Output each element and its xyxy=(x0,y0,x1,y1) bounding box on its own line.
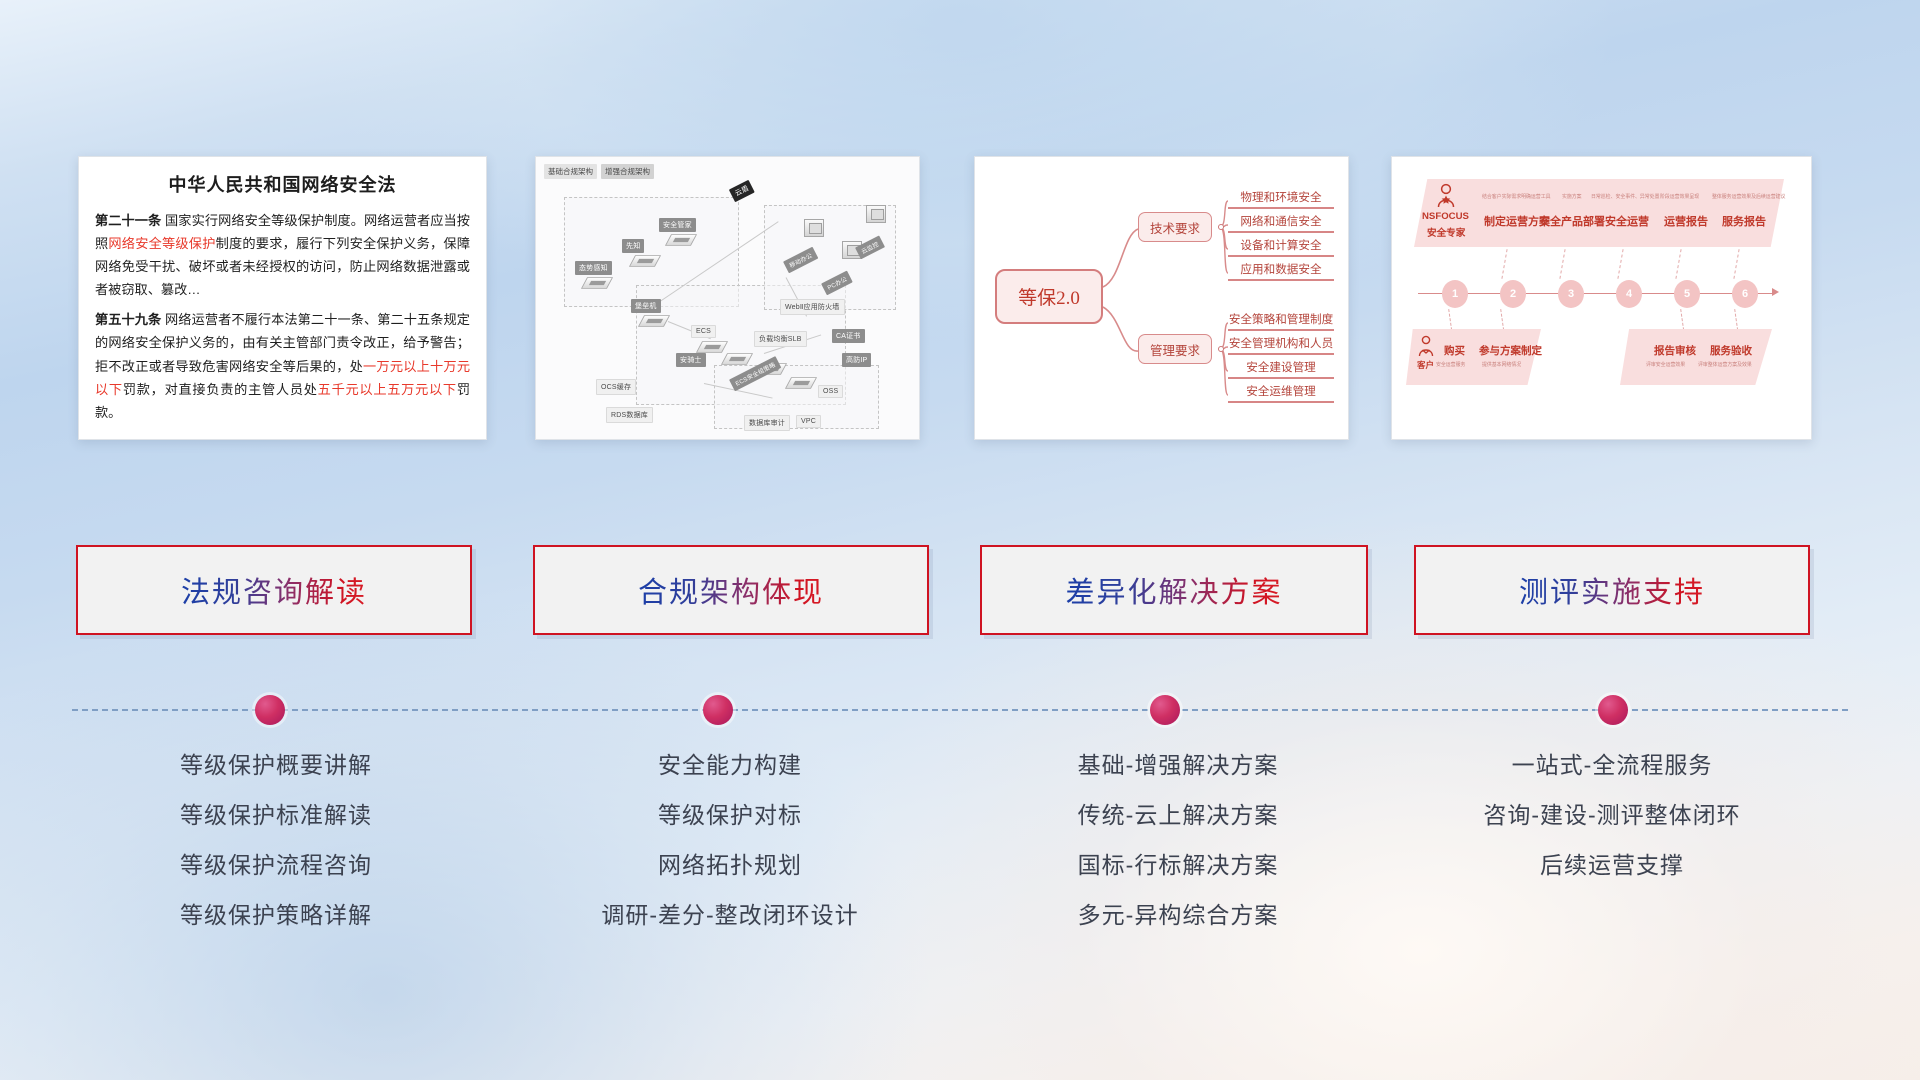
timeline-node-3[interactable] xyxy=(1598,695,1628,725)
mind-map-root[interactable]: 等保2.0 xyxy=(995,269,1103,324)
flow-step-2[interactable]: 2 xyxy=(1500,280,1526,308)
flow-timeline-axis xyxy=(1418,293,1774,294)
arch-tab-basic[interactable]: 基础合规架构 xyxy=(544,164,597,179)
timeline xyxy=(0,690,1920,730)
law-article-21-highlight: 网络安全等级保护 xyxy=(108,236,215,251)
mind-map-leaf-physical-env[interactable]: 物理和环境安全 xyxy=(1228,189,1334,209)
law-card-body: 中华人民共和国网络安全法 第二十一条 国家实行网络安全等级保护制度。网络运营者应… xyxy=(79,157,486,439)
arch-node-ca-cert[interactable]: CA证书 xyxy=(832,329,865,343)
arch-node-security-butler[interactable]: 安全管家 xyxy=(659,218,696,232)
mind-map-branch-management[interactable]: 管理要求 xyxy=(1138,334,1212,364)
section-title-text-0: 法规咨询解读 xyxy=(181,569,367,611)
flow-step-1[interactable]: 1 xyxy=(1442,280,1468,308)
list-item[interactable]: 多元-异构综合方案 xyxy=(978,890,1378,940)
arch-node-ecs[interactable]: ECS xyxy=(691,325,716,338)
timeline-node-1[interactable] xyxy=(703,695,733,725)
flow-tick-6 xyxy=(1733,249,1739,279)
preview-cards-row: 中华人民共和国网络安全法 第二十一条 国家实行网络安全等级保护制度。网络运营者应… xyxy=(0,150,1920,445)
flow-top-caption-2[interactable]: 安全产品部署 xyxy=(1539,213,1605,229)
flow-timeline-arrow-icon xyxy=(1772,288,1779,296)
section-title-text-2: 差异化解决方案 xyxy=(1065,569,1282,611)
list-item[interactable]: 等级保护流程咨询 xyxy=(76,840,476,890)
card-mind-map[interactable]: 等保2.0 技术要求 物理和环境安全 网络和通信安全 设备和计算安全 应用和数据… xyxy=(974,156,1349,440)
arch-node-vpc[interactable]: VPC xyxy=(796,415,821,428)
flow-top-sub-5: 整体服务运营效果及后续运营建议 xyxy=(1712,193,1785,200)
list-item[interactable]: 网络拓扑规划 xyxy=(530,840,930,890)
arch-node-cloud-shield[interactable]: 云盾 xyxy=(729,180,755,203)
list-item[interactable]: 等级保护标准解读 xyxy=(76,790,476,840)
mind-map-canvas: 等保2.0 技术要求 物理和环境安全 网络和通信安全 设备和计算安全 应用和数据… xyxy=(975,157,1348,439)
law-article-59-label: 第五十九条 xyxy=(95,312,161,327)
arch-node-oss[interactable]: OSS xyxy=(818,385,843,398)
list-item[interactable]: 等级保护对标 xyxy=(530,790,930,840)
list-item[interactable]: 一站式-全流程服务 xyxy=(1412,740,1812,790)
list-item[interactable]: 后续运营支撑 xyxy=(1412,840,1812,890)
mind-map-dot-management xyxy=(1218,346,1224,352)
law-card-title: 中华人民共和国网络安全法 xyxy=(95,171,470,197)
customer-person-icon xyxy=(1416,335,1436,359)
arch-node-anti-ddos[interactable]: 高防IP xyxy=(842,353,871,367)
flow-top-sub-1: 结合客户实际需求明确运营工具 xyxy=(1482,193,1550,200)
flow-vendor-label-1: NSFOCUS xyxy=(1422,211,1469,222)
mind-map-leaf-ops-mgmt[interactable]: 安全运维管理 xyxy=(1228,383,1334,403)
flow-top-caption-3[interactable]: 安全运营 xyxy=(1605,213,1649,229)
section-title-box-2[interactable]: 差异化解决方案 xyxy=(980,545,1368,635)
arch-pc-monitor xyxy=(866,205,886,223)
detail-list-3: 一站式-全流程服务 咨询-建设-测评整体闭环 后续运营支撑 xyxy=(1412,740,1812,890)
mind-map-leaf-org-personnel[interactable]: 安全管理机构和人员 xyxy=(1228,335,1334,355)
list-item[interactable]: 等级保护概要讲解 xyxy=(76,740,476,790)
flow-bottom-caption-2[interactable]: 参与方案制定 xyxy=(1479,343,1542,358)
arch-node-slb[interactable]: 负载均衡SLB xyxy=(754,331,807,347)
timeline-dashed-line xyxy=(72,709,1848,711)
list-item[interactable]: 安全能力构建 xyxy=(530,740,930,790)
flow-tick-2 xyxy=(1501,249,1507,279)
timeline-node-2[interactable] xyxy=(1150,695,1180,725)
flow-bottom-caption-1[interactable]: 购买 xyxy=(1444,343,1465,358)
section-detail-lists: 等级保护概要讲解 等级保护标准解读 等级保护流程咨询 等级保护策略详解 安全能力… xyxy=(0,740,1920,970)
flow-tick-3 xyxy=(1559,249,1565,279)
section-title-text-3: 测评实施支持 xyxy=(1519,569,1705,611)
flow-top-sub-2: 实施方案 xyxy=(1562,193,1582,200)
flow-step-4[interactable]: 4 xyxy=(1616,280,1642,308)
law-article-59-highlight-2: 五千元以上五万元以下 xyxy=(318,382,457,397)
arch-node-bastion-host[interactable]: 堡垒机 xyxy=(631,299,661,313)
arch-node-xianzhi[interactable]: 先知 xyxy=(622,239,644,253)
flow-step-6[interactable]: 6 xyxy=(1732,280,1758,308)
flow-vendor-label-2: 安全专家 xyxy=(1427,225,1465,239)
section-title-text-1: 合规架构体现 xyxy=(638,569,824,611)
flow-step-3[interactable]: 3 xyxy=(1558,280,1584,308)
section-title-box-0[interactable]: 法规咨询解读 xyxy=(76,545,472,635)
list-item[interactable]: 国标-行标解决方案 xyxy=(978,840,1378,890)
arch-node-situation-awareness[interactable]: 态势感知 xyxy=(575,261,612,275)
law-article-59: 第五十九条 网络运营者不履行本法第二十一条、第二十五条规定的网络安全保护义务的，… xyxy=(95,308,470,423)
law-article-21-label: 第二十一条 xyxy=(95,213,161,228)
arch-node-waf[interactable]: WebⅡ应用防火墙 xyxy=(780,299,845,315)
card-service-flow[interactable]: NSFOCUS 安全专家 结合客户实际需求明确运营工具 制定运营方案 实施方案 … xyxy=(1391,156,1812,440)
mind-map-branch-technical[interactable]: 技术要求 xyxy=(1138,212,1212,242)
card-law-text[interactable]: 中华人民共和国网络安全法 第二十一条 国家实行网络安全等级保护制度。网络运营者应… xyxy=(78,156,487,440)
mind-map-leaf-network-comm[interactable]: 网络和通信安全 xyxy=(1228,213,1334,233)
arch-node-ocs-cache[interactable]: OCS缓存 xyxy=(596,379,636,395)
architecture-tabs: 基础合规架构 增强合规架构 xyxy=(544,164,654,179)
mind-map-leaf-device-compute[interactable]: 设备和计算安全 xyxy=(1228,237,1334,257)
arch-pc-mobile-office xyxy=(804,219,824,237)
flow-customer-label: 客户 xyxy=(1417,359,1434,371)
flow-top-sub-3: 日常巡检、安全事件、异常处置 xyxy=(1591,193,1659,200)
timeline-node-0[interactable] xyxy=(255,695,285,725)
section-title-box-1[interactable]: 合规架构体现 xyxy=(533,545,929,635)
expert-person-icon xyxy=(1434,183,1458,209)
law-article-21: 第二十一条 国家实行网络安全等级保护制度。网络运营者应当按照网络安全等级保护制度… xyxy=(95,209,470,301)
arch-node-db-audit[interactable]: 数据库审计 xyxy=(744,415,790,431)
architecture-canvas: 基础合规架构 增强合规架构 云盾 安全管家 先知 态势感知 堡 xyxy=(536,157,919,439)
mind-map-leaf-policy-system[interactable]: 安全策略和管理制度 xyxy=(1228,311,1334,331)
list-item[interactable]: 调研-差分-整改闭环设计 xyxy=(530,890,930,940)
flow-bottom-sub-4: 评审整体运营方案及效果 xyxy=(1698,361,1752,368)
detail-list-2: 基础-增强解决方案 传统-云上解决方案 国标-行标解决方案 多元-异构综合方案 xyxy=(978,740,1378,940)
mind-map-leaf-app-data[interactable]: 应用和数据安全 xyxy=(1228,261,1334,281)
law-article-59-text-2: 罚款，对直接负责的主管人员处 xyxy=(123,382,318,397)
flow-step-5[interactable]: 5 xyxy=(1674,280,1700,308)
list-item[interactable]: 基础-增强解决方案 xyxy=(978,740,1378,790)
flow-top-sub-4: 阶段运营效果呈现 xyxy=(1660,193,1699,200)
flow-bottom-caption-4[interactable]: 服务验收 xyxy=(1710,343,1752,358)
card-architecture-diagram[interactable]: 基础合规架构 增强合规架构 云盾 安全管家 先知 态势感知 堡 xyxy=(535,156,920,440)
mind-map-dot-technical xyxy=(1218,224,1224,230)
flow-tick-4 xyxy=(1617,249,1623,279)
arch-node-anqishi[interactable]: 安骑士 xyxy=(676,353,706,367)
list-item[interactable]: 等级保护策略详解 xyxy=(76,890,476,940)
section-title-row: 法规咨询解读 合规架构体现 差异化解决方案 测评实施支持 xyxy=(0,545,1920,640)
flow-top-caption-4[interactable]: 运营报告 xyxy=(1664,213,1708,229)
mind-map-leaf-build-mgmt[interactable]: 安全建设管理 xyxy=(1228,359,1334,379)
flow-bottom-caption-3[interactable]: 报告审核 xyxy=(1654,343,1696,358)
section-title-box-3[interactable]: 测评实施支持 xyxy=(1414,545,1810,635)
service-flow-canvas: NSFOCUS 安全专家 结合客户实际需求明确运营工具 制定运营方案 实施方案 … xyxy=(1392,157,1811,439)
flow-top-caption-5[interactable]: 服务报告 xyxy=(1722,213,1766,229)
list-item[interactable]: 咨询-建设-测评整体闭环 xyxy=(1412,790,1812,840)
arch-node-rds[interactable]: RDS数据库 xyxy=(606,407,653,423)
list-item[interactable]: 传统-云上解决方案 xyxy=(978,790,1378,840)
detail-list-0: 等级保护概要讲解 等级保护标准解读 等级保护流程咨询 等级保护策略详解 xyxy=(76,740,476,940)
flow-bottom-sub-3: 评审安全运营效果 xyxy=(1646,361,1685,368)
detail-list-1: 安全能力构建 等级保护对标 网络拓扑规划 调研-差分-整改闭环设计 xyxy=(530,740,930,940)
arch-tab-enhanced[interactable]: 增强合规架构 xyxy=(601,164,654,179)
flow-bottom-sub-1: 安全运营服务 xyxy=(1436,361,1465,368)
flow-bottom-sub-2: 提供基本网络情况 xyxy=(1482,361,1521,368)
flow-tick-5 xyxy=(1675,249,1681,279)
